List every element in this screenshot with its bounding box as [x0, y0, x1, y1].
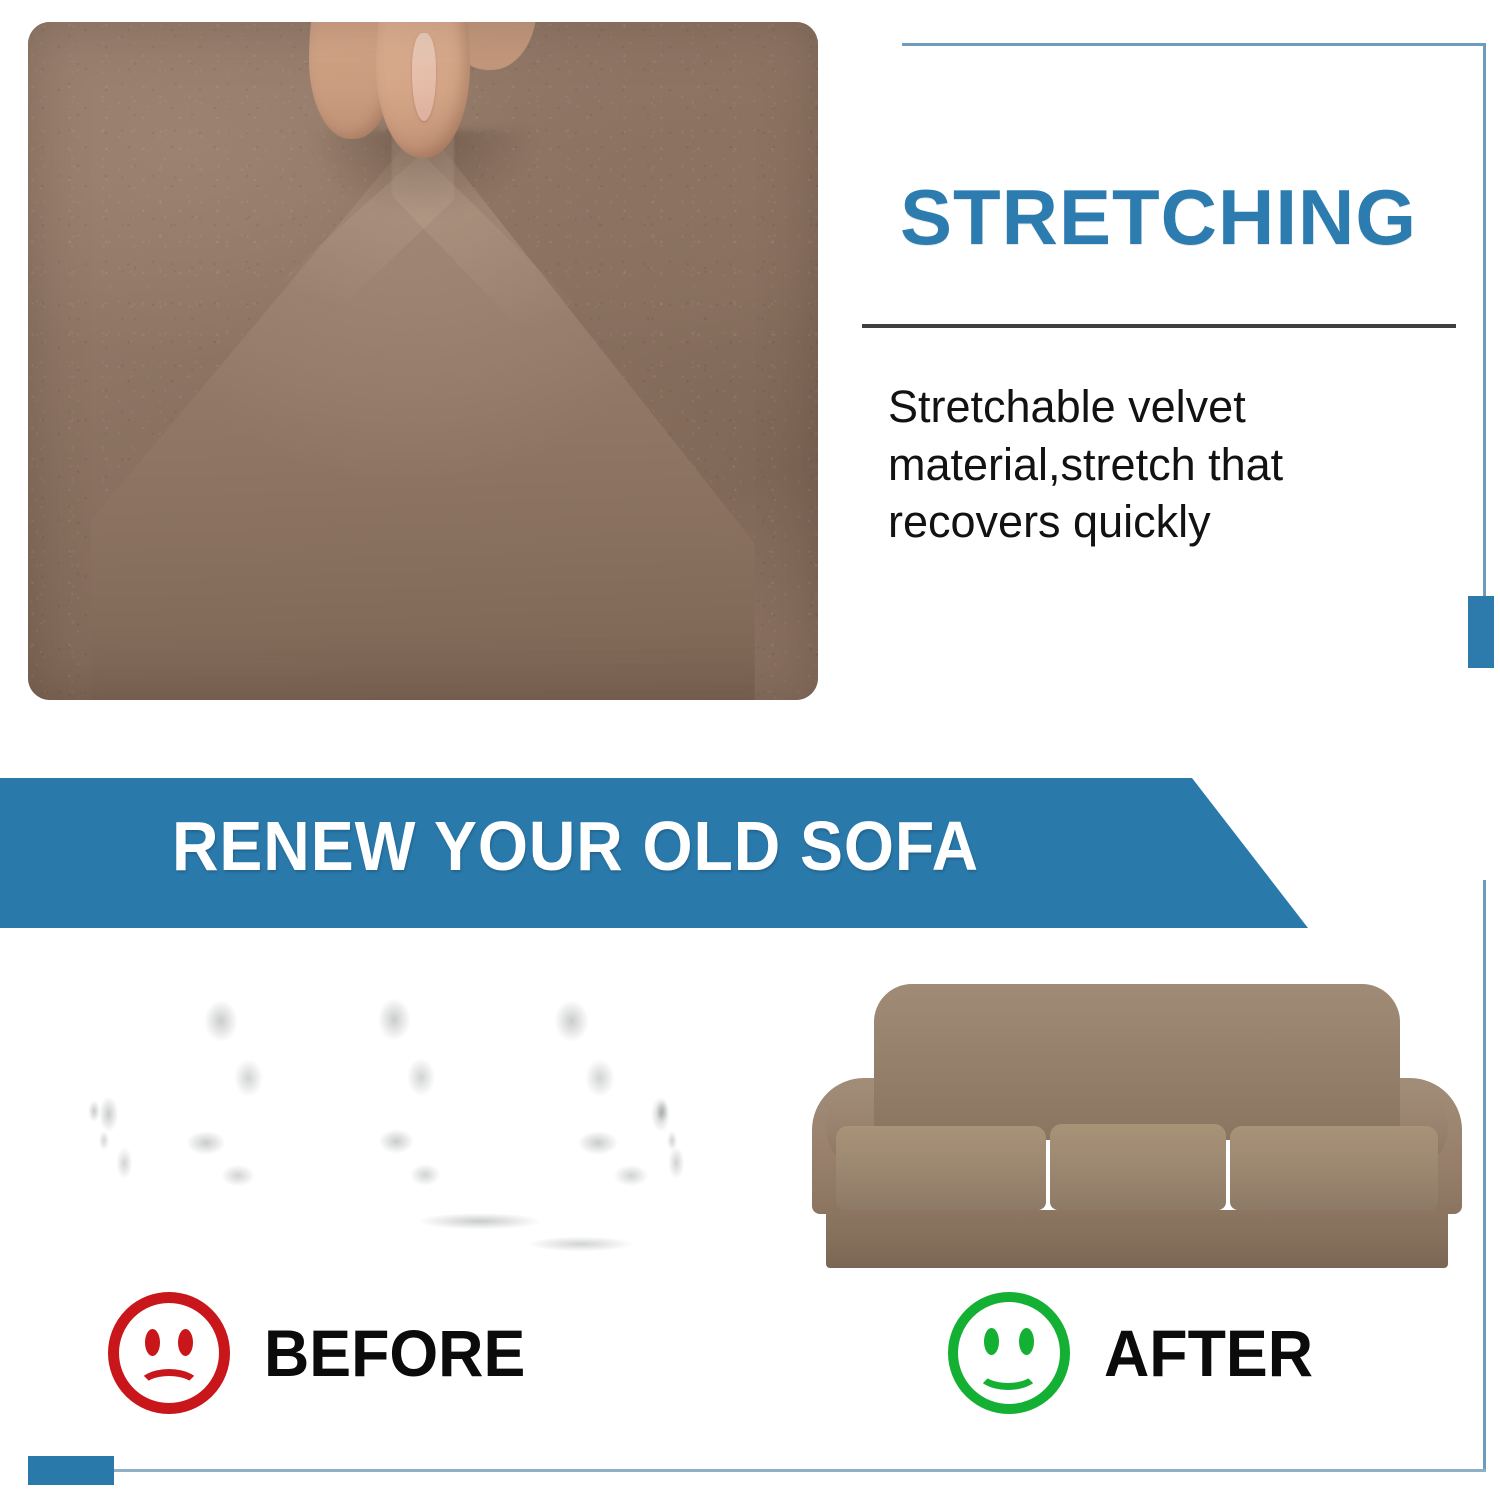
after-seat-cushion-3: [1230, 1126, 1438, 1210]
renew-banner-label: RENEW YOUR OLD SOFA: [172, 806, 979, 886]
before-label: BEFORE: [264, 1315, 525, 1391]
after-sofa-skirt: [826, 1210, 1448, 1268]
feature-description: Stretchable velvet material,stretch that…: [888, 378, 1448, 551]
before-seat-cushion-2: [274, 1122, 454, 1210]
fingernail: [412, 33, 437, 121]
fabric-peak-shadow: [265, 130, 581, 333]
before-sofa-skirt: [50, 1208, 682, 1268]
sad-face-icon: [108, 1292, 230, 1414]
before-back-cushion-2: [280, 986, 448, 1138]
happy-eye-right: [1019, 1328, 1034, 1355]
before-seat-cushion-3: [458, 1124, 664, 1210]
frame-accent-block-left: [28, 1456, 114, 1485]
frame-right-upper-line: [1483, 43, 1486, 603]
before-back-cushion-1: [104, 988, 276, 1138]
fabric-stretch-photo: [28, 22, 818, 700]
before-back-cushion-3: [452, 988, 628, 1138]
heading-divider: [862, 324, 1456, 328]
product-feature-page: STRETCHING Stretchable velvet material,s…: [0, 0, 1500, 1500]
sad-eye-right: [178, 1329, 193, 1356]
happy-face-icon: [948, 1292, 1070, 1414]
frame-accent-block-right: [1468, 596, 1494, 668]
index-finger: [376, 22, 471, 158]
after-seat-cushion-1: [836, 1126, 1046, 1210]
frame-bottom-line: [30, 1469, 1486, 1472]
frame-right-lower-line: [1483, 880, 1486, 1472]
sad-eye-left: [145, 1329, 160, 1356]
before-sofa-image: [42, 968, 692, 1268]
before-label-row: BEFORE: [108, 1292, 539, 1414]
frown-mouth: [137, 1369, 201, 1405]
after-back-cushion: [874, 984, 1400, 1140]
smile-mouth: [976, 1354, 1040, 1390]
after-label-row: AFTER: [948, 1292, 1324, 1414]
after-seat-cushion-2: [1050, 1124, 1226, 1210]
after-label: AFTER: [1104, 1315, 1313, 1391]
hand-pinching-fabric: [305, 22, 542, 158]
after-sofa-image: [812, 968, 1462, 1268]
feature-heading: STRETCHING: [900, 178, 1417, 256]
happy-eye-left: [984, 1328, 999, 1355]
before-seat-cushion-1: [70, 1124, 270, 1210]
frame-top-line: [902, 43, 1486, 46]
